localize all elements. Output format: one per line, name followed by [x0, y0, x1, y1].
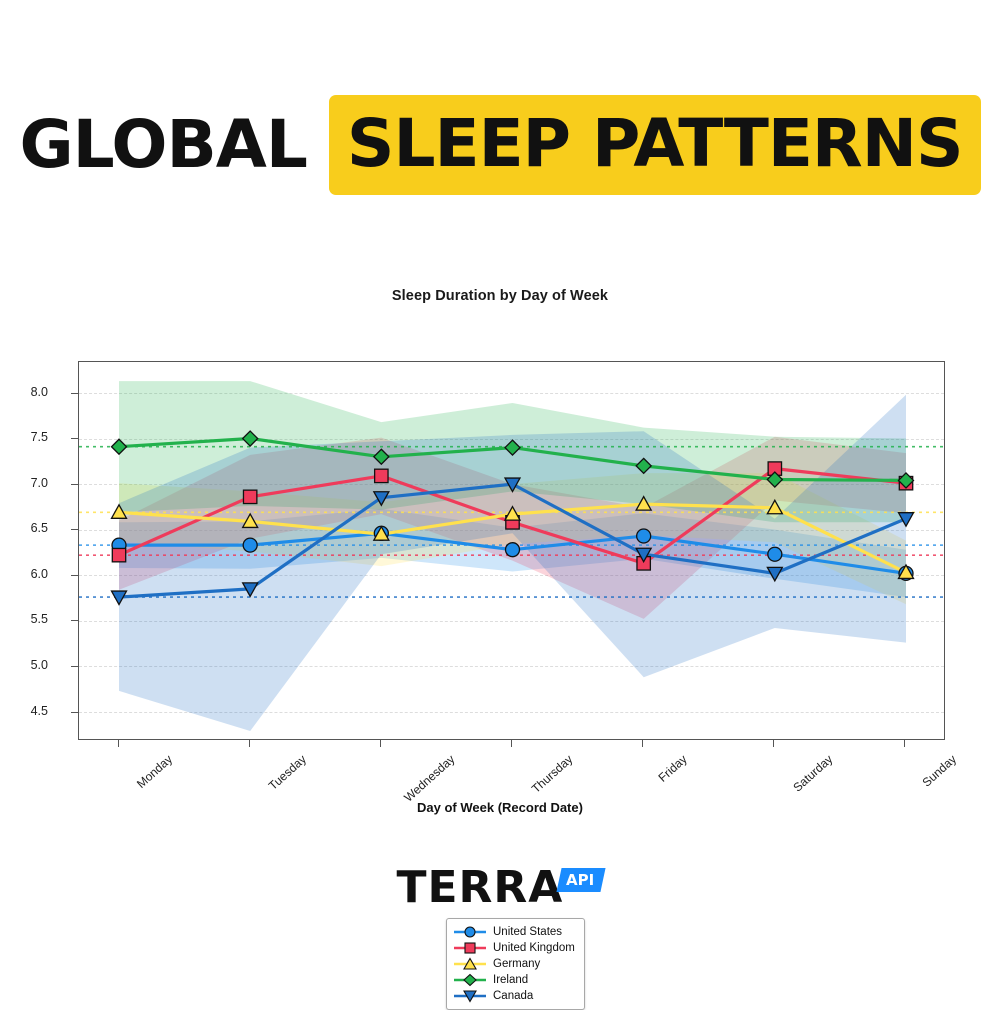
legend-label: Canada	[493, 990, 533, 1002]
chart-legend[interactable]: United States United Kingdom	[446, 918, 585, 1010]
series-marker	[243, 490, 256, 503]
y-tick-label: 5.0	[0, 658, 48, 672]
logo-api-badge: API	[557, 868, 606, 892]
legend-item-ireland[interactable]: Ireland	[453, 972, 575, 988]
y-tick-mark	[71, 712, 78, 713]
x-tick-mark	[904, 740, 905, 747]
series-marker	[375, 469, 388, 482]
series-marker	[243, 538, 257, 552]
y-tick-mark	[71, 393, 78, 394]
legend-item-united-kingdom[interactable]: United Kingdom	[453, 940, 575, 956]
x-tick-label: Monday	[134, 752, 175, 791]
chart-title: Sleep Duration by Day of Week	[0, 288, 1000, 304]
y-tick-label: 4.5	[0, 704, 48, 718]
poster-header: GLOBAL SLEEP PATTERNS	[0, 95, 1000, 195]
x-tick-label: Sunday	[919, 752, 959, 790]
poster-page: GLOBAL SLEEP PATTERNS Sleep Duration by …	[0, 0, 1000, 1000]
header-plain-text: GLOBAL	[19, 112, 328, 178]
legend-item-germany[interactable]: Germany	[453, 956, 575, 972]
chart-plot-svg	[79, 362, 945, 740]
brand-logo: TERRA API	[0, 866, 1000, 910]
y-tick-mark	[71, 666, 78, 667]
logo-wordmark: TERRA	[396, 866, 563, 910]
legend-label: Ireland	[493, 974, 528, 986]
y-tick-mark	[71, 620, 78, 621]
x-tick-label: Tuesday	[266, 752, 309, 793]
y-tick-label: 8.0	[0, 385, 48, 399]
x-tick-label: Saturday	[790, 752, 835, 795]
y-tick-mark	[71, 529, 78, 530]
y-tick-mark	[71, 484, 78, 485]
legend-item-canada[interactable]: Canada	[453, 988, 575, 1004]
x-tick-label: Thursday	[529, 752, 576, 796]
chart-container: Sleep Duration by Day of Week Mean Sleep…	[0, 270, 1000, 830]
y-tick-label: 5.5	[0, 612, 48, 626]
y-tick-label: 6.0	[0, 567, 48, 581]
legend-label: United Kingdom	[493, 942, 575, 954]
x-tick-mark	[642, 740, 643, 747]
x-tick-label: Wednesday	[401, 752, 457, 805]
x-tick-mark	[249, 740, 250, 747]
legend-marker-triangle-up-icon	[453, 957, 487, 971]
legend-marker-triangle-down-icon	[453, 989, 487, 1003]
x-tick-label: Friday	[656, 752, 690, 785]
legend-marker-circle-icon	[453, 925, 487, 939]
plot-area	[78, 361, 945, 740]
series-marker	[506, 543, 520, 557]
x-tick-mark	[118, 740, 119, 747]
header-highlight-text: SLEEP PATTERNS	[329, 95, 981, 195]
legend-item-united-states[interactable]: United States	[453, 924, 575, 940]
y-tick-label: 7.5	[0, 430, 48, 444]
legend-marker-diamond-icon	[453, 973, 487, 987]
legend-marker-square-icon	[453, 941, 487, 955]
y-tick-label: 7.0	[0, 476, 48, 490]
y-tick-label: 6.5	[0, 521, 48, 535]
logo-api-badge-text: API	[566, 871, 594, 889]
legend-label: United States	[493, 926, 562, 938]
x-axis-label: Day of Week (Record Date)	[0, 800, 1000, 815]
x-tick-mark	[773, 740, 774, 747]
series-marker	[637, 529, 651, 543]
x-tick-mark	[380, 740, 381, 747]
y-tick-mark	[71, 438, 78, 439]
y-tick-mark	[71, 575, 78, 576]
series-marker	[768, 547, 782, 561]
x-tick-mark	[511, 740, 512, 747]
legend-label: Germany	[493, 958, 540, 970]
series-marker	[112, 548, 125, 561]
